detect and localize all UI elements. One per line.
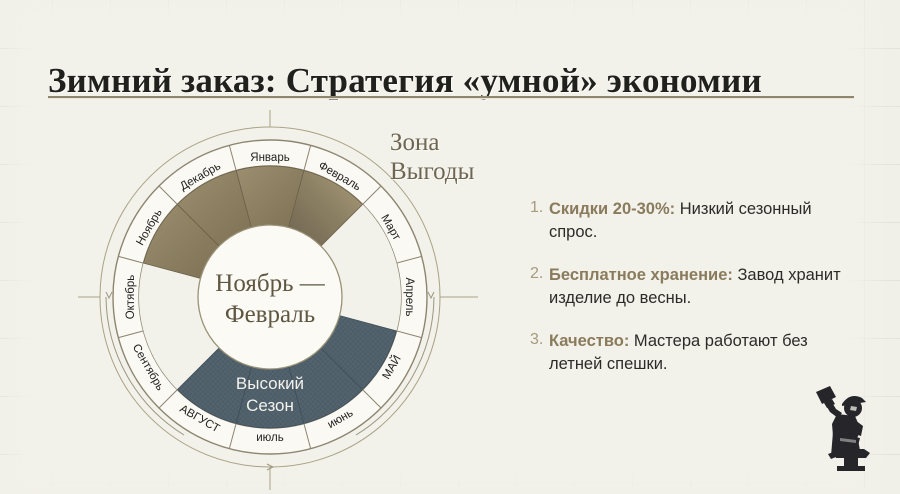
blacksmith-anvil-icon [806,384,882,472]
month-label: Апрель [403,277,415,316]
zone-label-line2: Выгоды [390,157,474,186]
benefit-lead: Бесплатное хранение: [549,266,733,284]
benefit-number: 1. [530,198,549,243]
month-label: Октябрь [125,275,137,320]
benefit-body: Качество: Мастера работают без летней сп… [549,330,860,375]
zone-label-line1: Зона [390,128,474,157]
month-label: Январь [250,152,289,164]
benefit-number: 2. [530,264,549,309]
benefit-body: Бесплатное хранение: Завод хранит издели… [549,264,860,309]
high-season-line2: Сезон [246,396,294,415]
high-season-line1: Высокий [236,374,304,393]
benefits-list: 1.Скидки 20-30%: Низкий сезонный спрос.2… [530,198,860,396]
benefit-body: Скидки 20-30%: Низкий сезонный спрос. [549,198,860,243]
benefit-lead: Скидки 20-30%: [549,200,675,218]
wheel-center-line2: Февраль [225,301,315,328]
title-divider [48,96,854,99]
month-label: июль [256,432,284,444]
benefit-item: 3.Качество: Мастера работают без летней … [530,330,860,375]
wheel-center-line1: Ноябрь — [215,270,325,297]
benefit-item: 1.Скидки 20-30%: Низкий сезонный спрос. [530,198,860,243]
benefit-number: 3. [530,330,549,375]
zone-benefit-label: Зона Выгоды [390,128,474,186]
benefit-item: 2.Бесплатное хранение: Завод хранит изде… [530,264,860,309]
benefit-lead: Качество: [549,332,629,350]
